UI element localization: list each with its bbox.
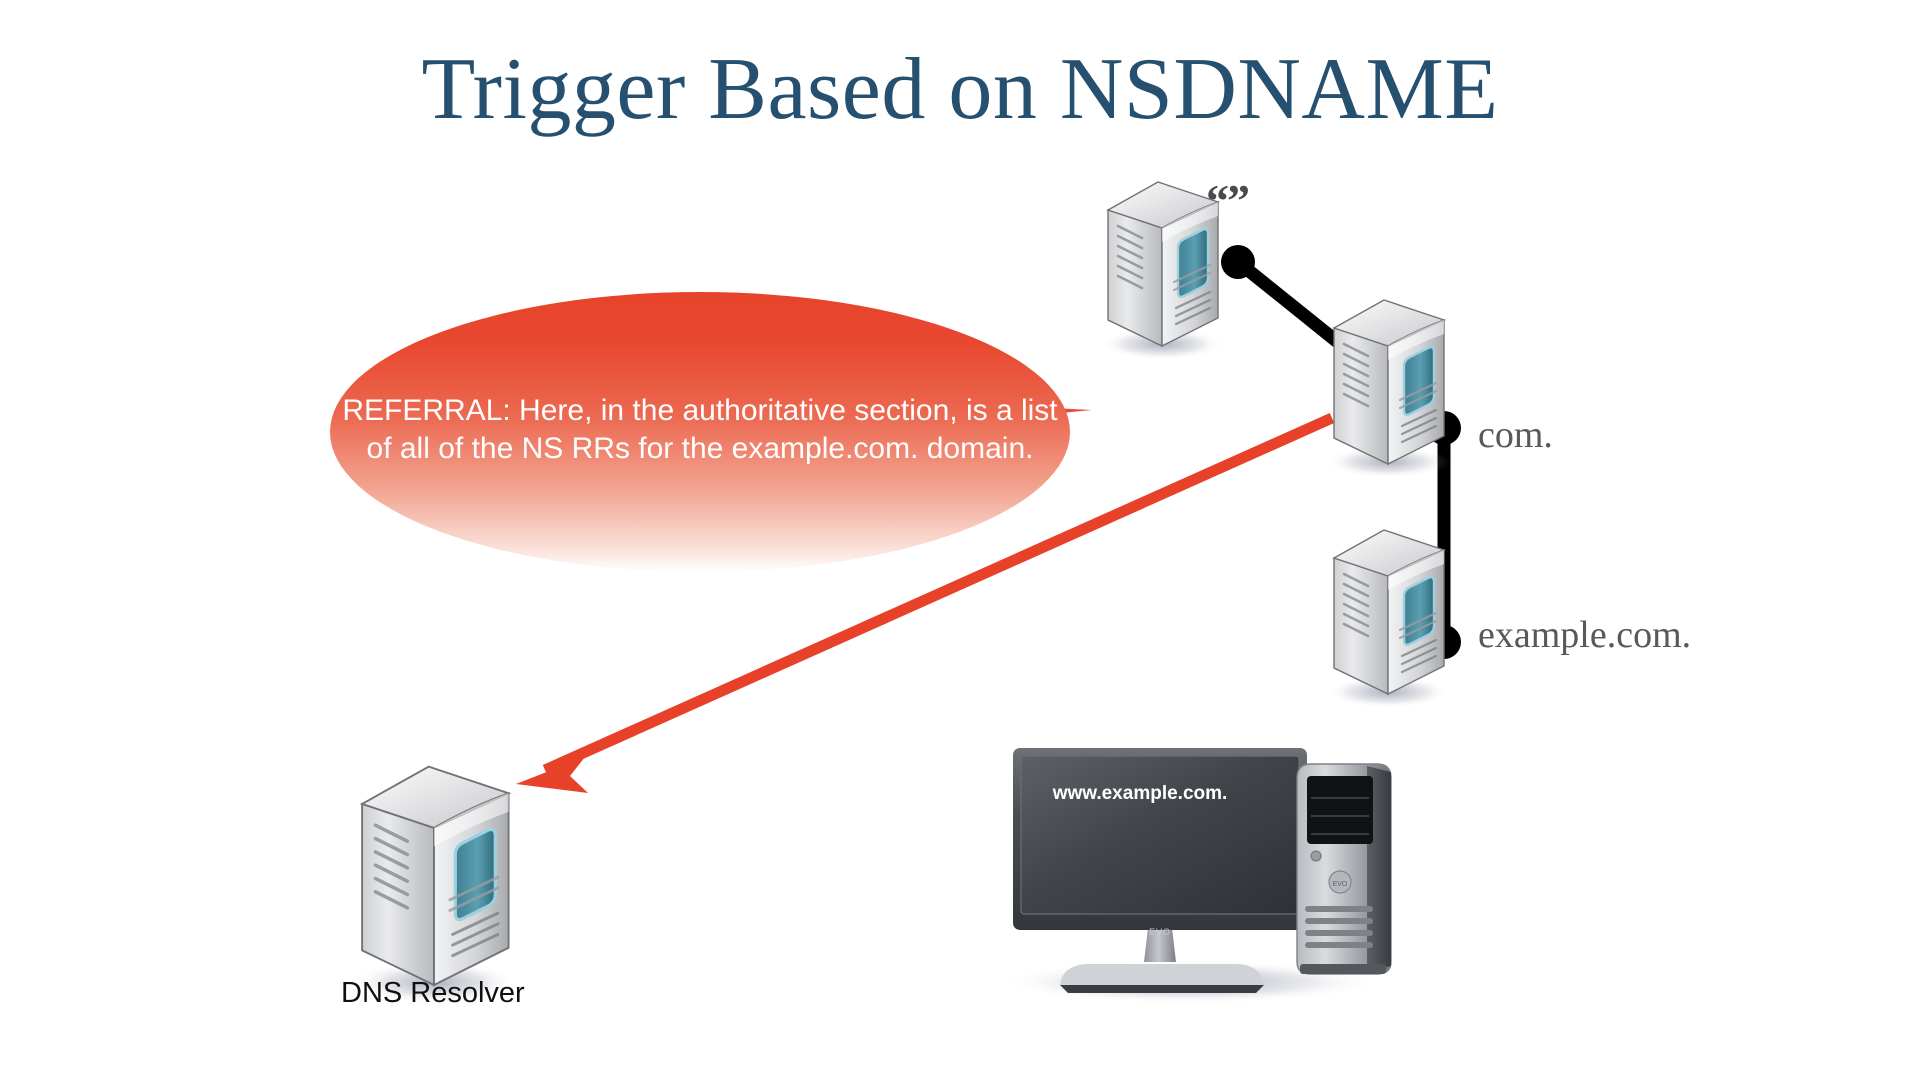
tree-label-root: “” [1206,174,1248,227]
monitor-brand-label: EVO [1149,927,1171,937]
referral-line-2: of all of the NS RRs for the example.com… [330,430,1070,468]
tree-label-example: example.com. [1478,613,1691,657]
monitor-stand [1060,928,1264,993]
slide-canvas: Trigger Based on NSDNAME [0,0,1920,1080]
referral-callout-text: REFERRAL: Here, in the authoritative sec… [330,392,1070,469]
referral-line-1: REFERRAL: Here, in the authoritative sec… [330,392,1070,430]
server-tower-icon-example[interactable] [1326,530,1450,708]
monitor-screen-text: www.example.com. [1020,783,1260,805]
dns-hierarchy-diagram: EVO EVO [0,0,1920,1080]
desktop-monitor-icon[interactable]: EVO [1013,748,1307,937]
server-tower-icon-com[interactable] [1326,300,1450,478]
tower-brand-label: EVO [1333,881,1348,888]
dns-resolver-label: DNS Resolver [341,977,525,1010]
server-tower-icon-resolver[interactable] [351,767,516,1004]
desktop-tower-icon[interactable]: EVO [1297,764,1391,974]
tree-node-root[interactable] [1221,245,1255,279]
tree-label-com: com. [1478,413,1553,457]
monitor-screen [1021,756,1299,914]
